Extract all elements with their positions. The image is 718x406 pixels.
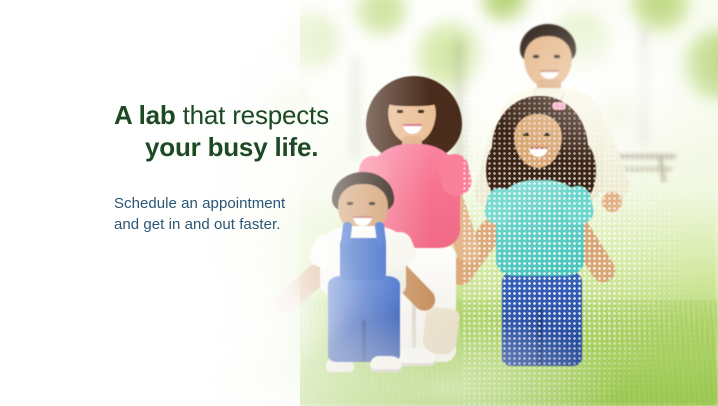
girl-eye	[544, 133, 550, 136]
subcopy-line1: Schedule an appointment	[114, 194, 444, 215]
man-eye	[533, 55, 539, 58]
lawn-sun-highlight	[0, 250, 520, 406]
hero-banner: A lab that respects your busy life. Sche…	[0, 0, 718, 406]
headline-line1-rest: that respects	[176, 100, 329, 130]
headline-line2: your busy life.	[114, 132, 444, 164]
girl-hair-clip	[552, 102, 566, 110]
headline-bold-lead: A lab	[114, 100, 176, 130]
man-eye	[554, 55, 560, 58]
headline: A lab that respects your busy life.	[114, 100, 444, 164]
subcopy-line2: and get in and out faster.	[114, 215, 444, 236]
copy-block: A lab that respects your busy life. Sche…	[114, 100, 444, 235]
girl-eye	[523, 133, 529, 136]
girl-leg-seam	[538, 308, 542, 366]
subcopy: Schedule an appointment and get in and o…	[114, 164, 444, 235]
